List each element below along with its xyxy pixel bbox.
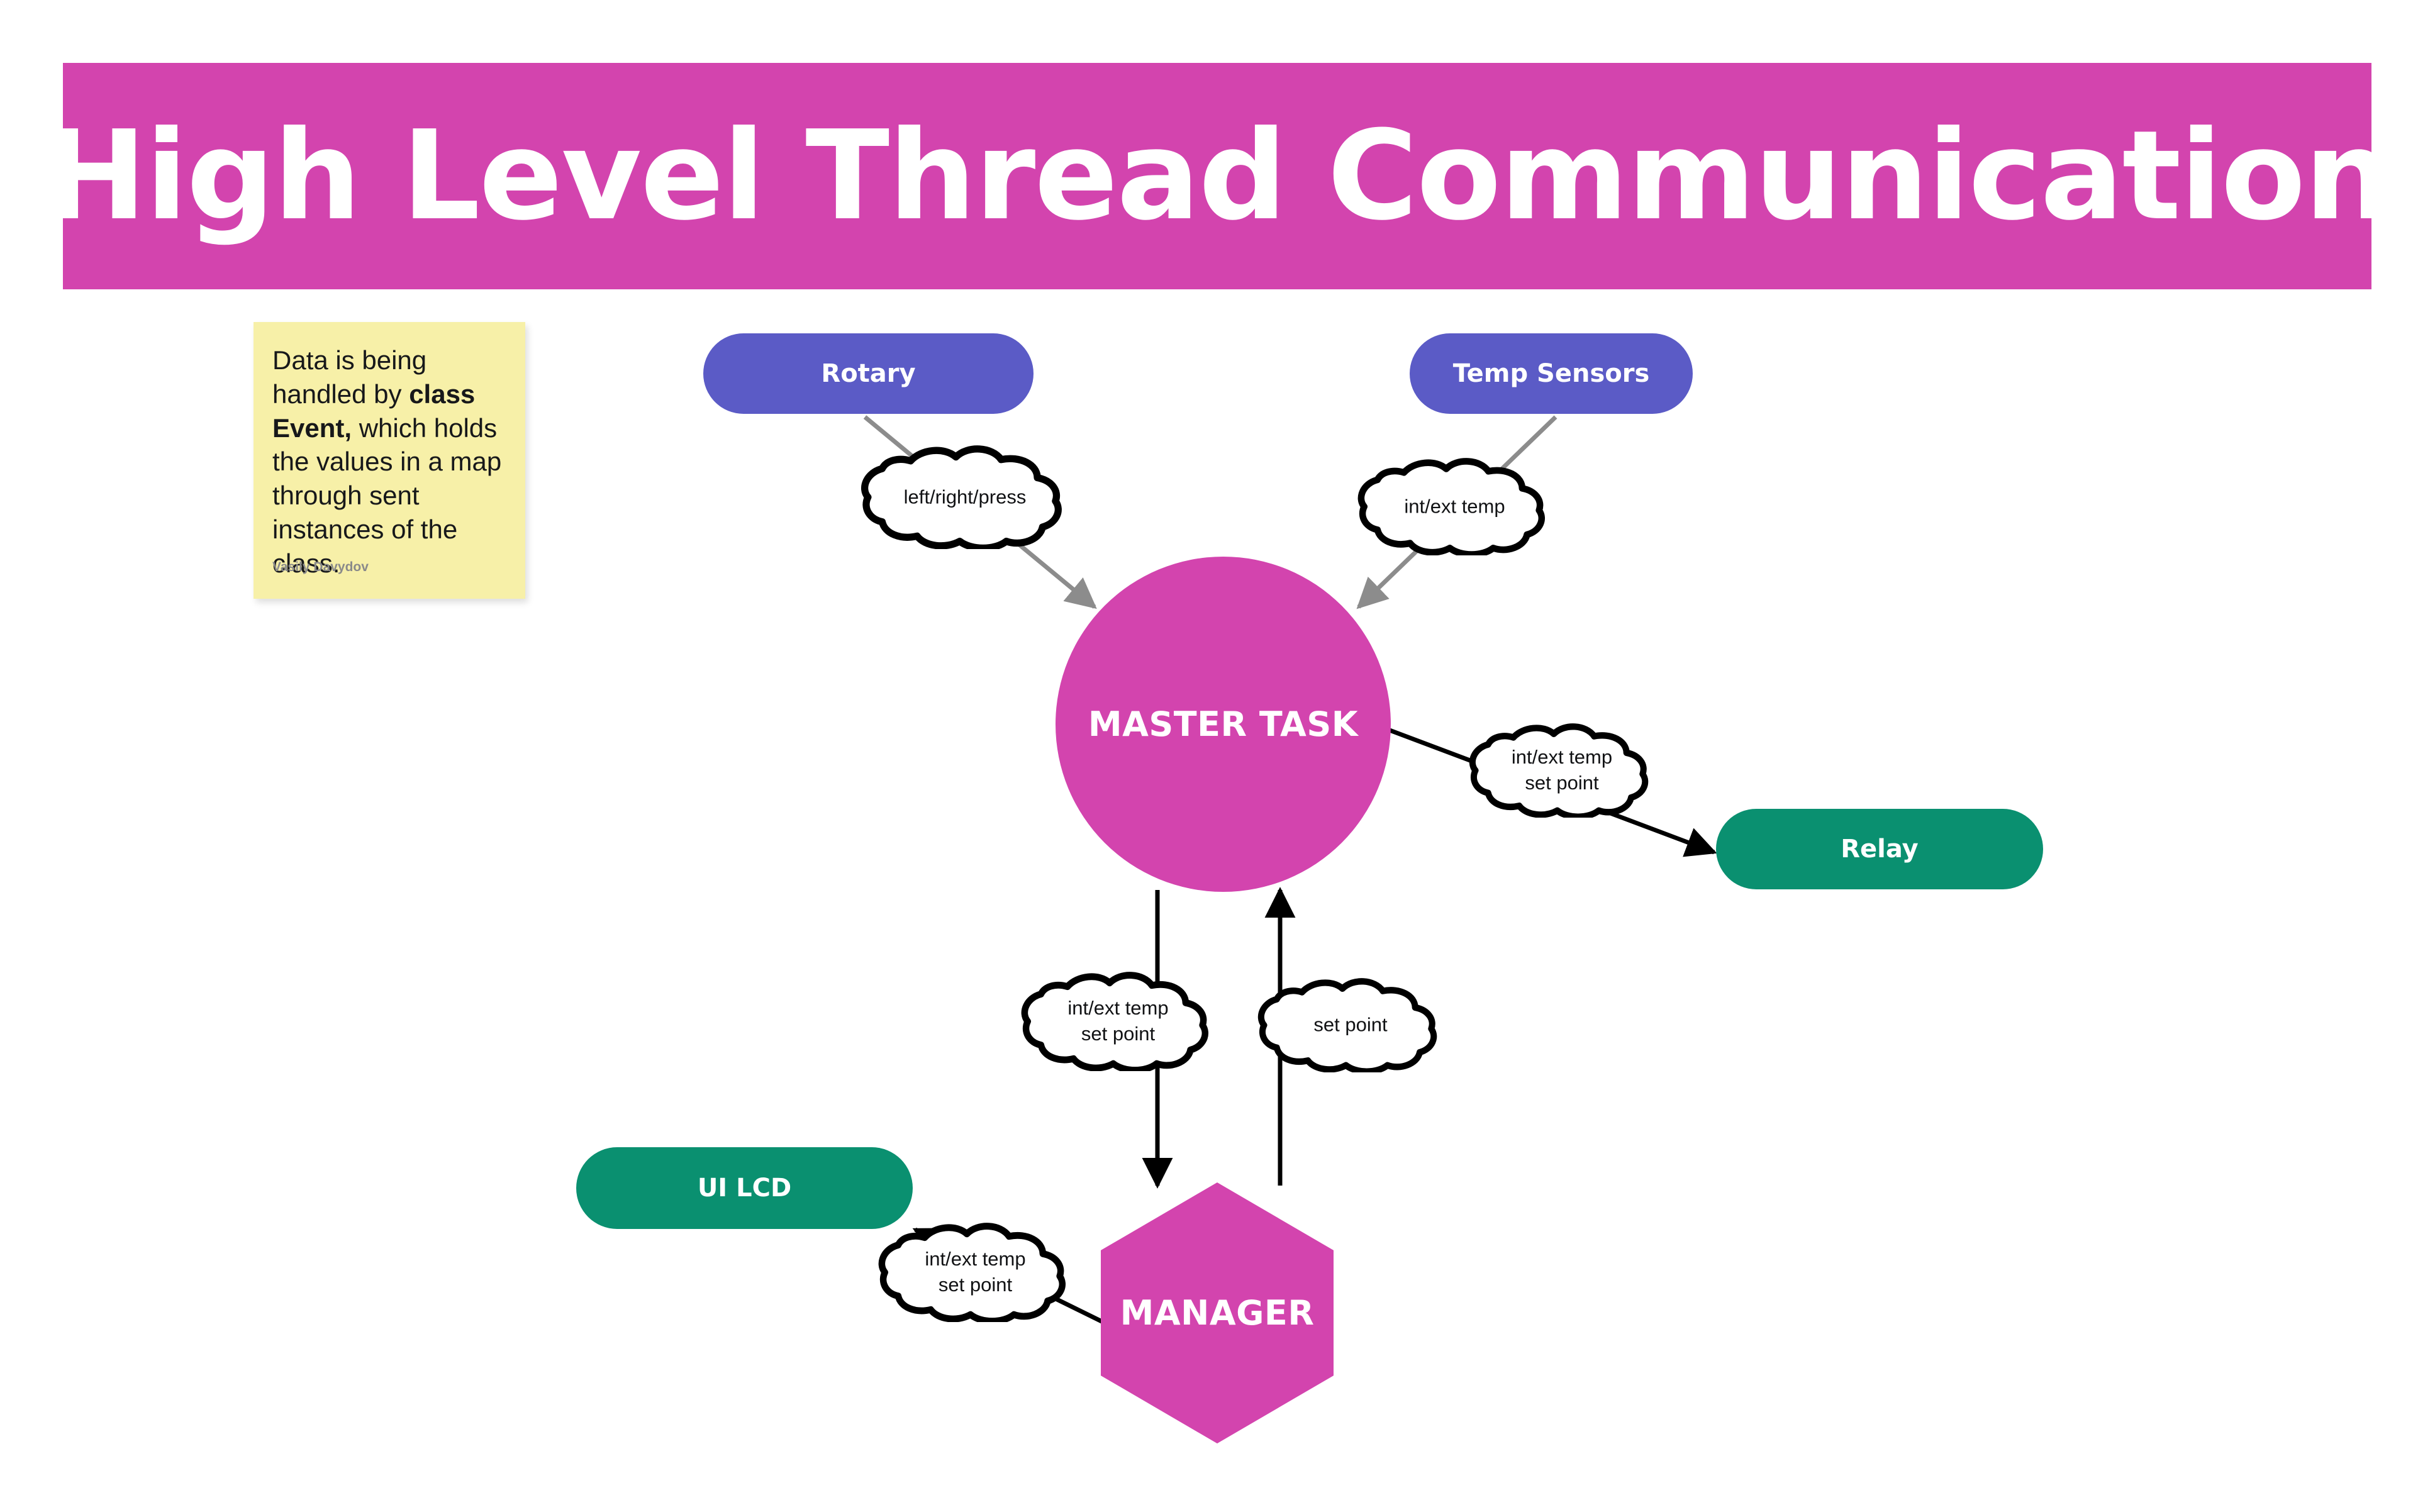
sticky-note-author: Vasily Davydov <box>272 560 369 575</box>
cloud-manager-to-master: set point <box>1247 978 1454 1072</box>
node-relay[interactable]: Relay <box>1716 809 2043 889</box>
sticky-note-text: Data is being handled by class Event, wh… <box>272 343 506 580</box>
node-temp-sensors-label: Temp Sensors <box>1453 359 1650 388</box>
cloud-master-to-relay: int/ext temp set point <box>1458 723 1666 818</box>
node-relay-label: Relay <box>1841 835 1918 864</box>
node-manager[interactable]: MANAGER <box>1101 1182 1334 1443</box>
node-master-task[interactable]: MASTER TASK <box>1056 557 1391 892</box>
node-ui-lcd-label: UI LCD <box>698 1174 791 1203</box>
cloud-manager-to-lcd: int/ext temp set point <box>867 1223 1084 1322</box>
node-manager-label: MANAGER <box>1120 1293 1315 1333</box>
cloud-master-to-manager: int/ext temp set point <box>1010 972 1227 1071</box>
diagram-canvas: High Level Thread Communication Data is … <box>0 0 2435 1512</box>
sticky-note-text-part1: Data is being handled by <box>272 345 426 409</box>
node-rotary[interactable]: Rotary <box>703 333 1034 414</box>
title-banner: High Level Thread Communication <box>63 63 2371 289</box>
node-ui-lcd[interactable]: UI LCD <box>576 1147 913 1229</box>
page-title: High Level Thread Communication <box>43 114 2391 238</box>
node-master-task-label: MASTER TASK <box>1088 704 1358 744</box>
sticky-note: Data is being handled by class Event, wh… <box>254 322 525 599</box>
node-temp-sensors[interactable]: Temp Sensors <box>1410 333 1693 414</box>
cloud-temp-to-master: int/ext temp <box>1346 458 1563 555</box>
node-rotary-label: Rotary <box>821 359 915 388</box>
cloud-rotary-to-master: left/right/press <box>849 445 1081 549</box>
